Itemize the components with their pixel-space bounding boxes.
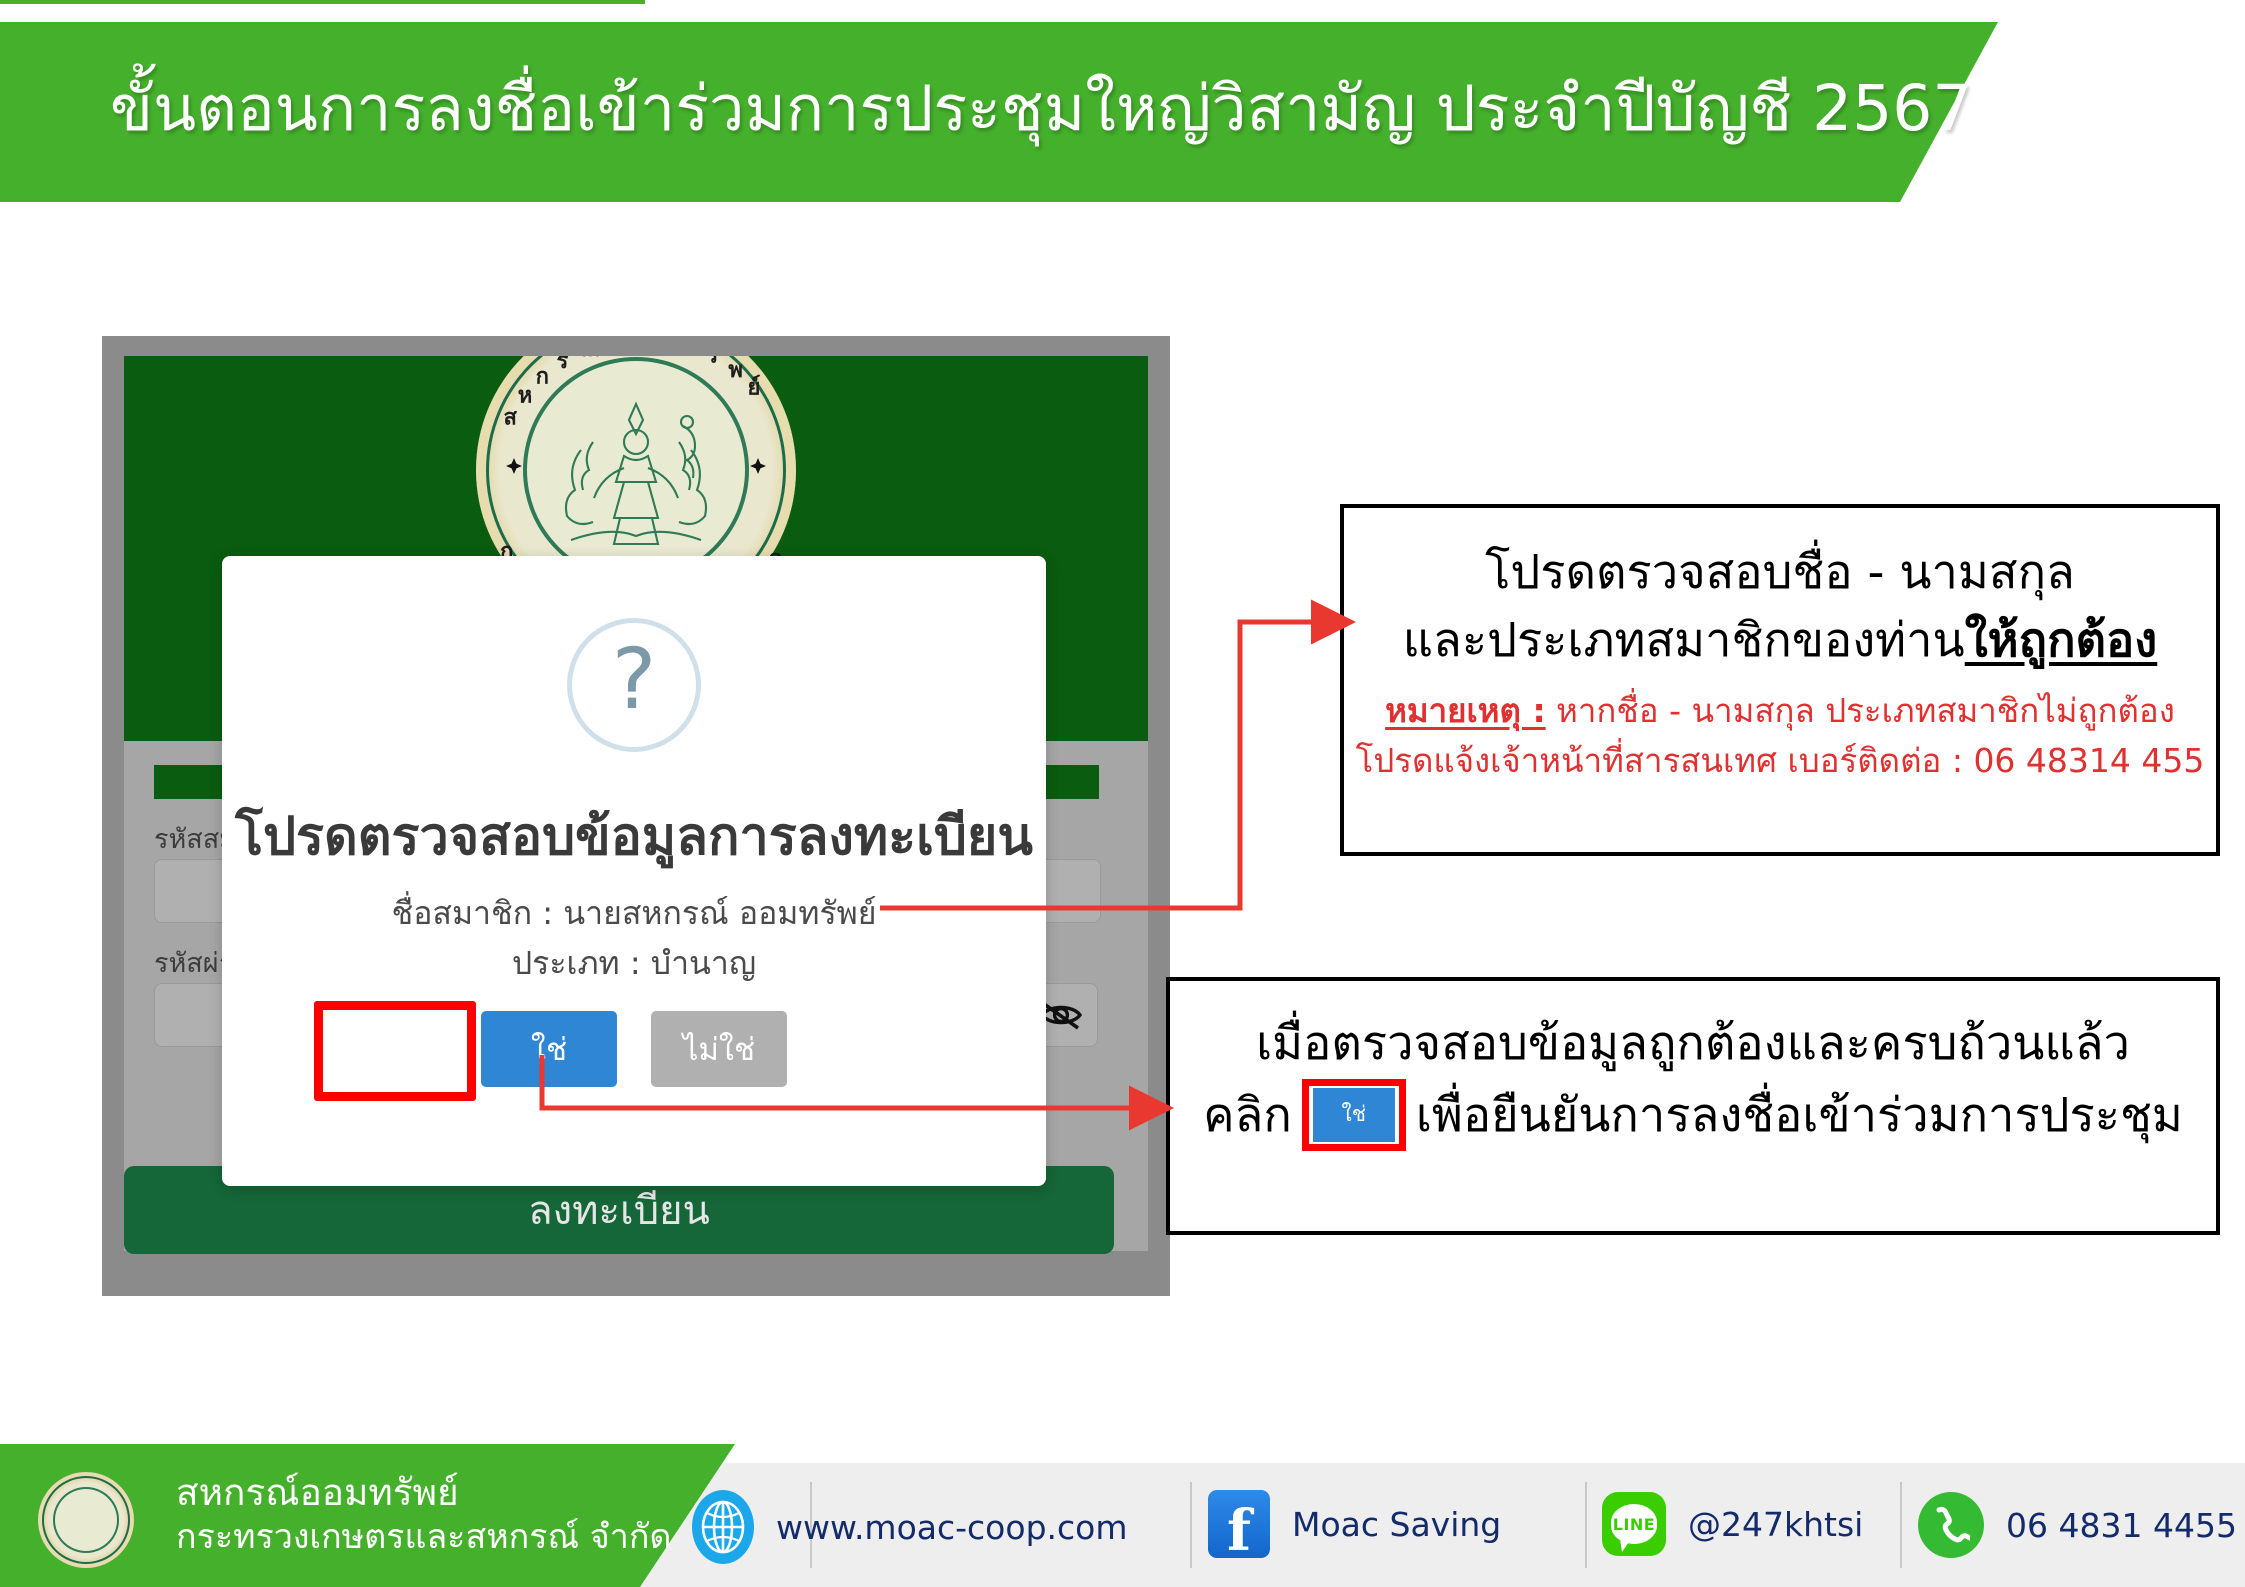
- phone-glyph: [1932, 1506, 1970, 1544]
- globe-icon: [692, 1490, 754, 1564]
- footer-item-website[interactable]: www.moac-coop.com: [692, 1490, 1127, 1564]
- footer-org-name: สหกรณ์ออมทรัพย์ กระทรวงเกษตรและสหกรณ์ จำ…: [176, 1470, 672, 1558]
- slide-canvas: ขั้นตอนการลงชื่อเข้าร่วมการประชุมใหญ่วิส…: [0, 0, 2245, 1587]
- dialog-title: โปรดตรวจสอบข้อมูลการลงทะเบียน: [222, 794, 1046, 877]
- footer-line-text: @247khtsi: [1688, 1505, 1863, 1544]
- callout2-click-word: คลิก: [1203, 1077, 1292, 1152]
- footer-org-line2: กระทรวงเกษตรและสหกรณ์ จำกัด: [176, 1516, 672, 1558]
- callout2-yes-chip-highlight: ใช่: [1302, 1079, 1406, 1151]
- top-accent-line: [0, 0, 645, 4]
- footer-item-facebook[interactable]: f Moac Saving: [1208, 1490, 1501, 1558]
- footer-seal-inner: [53, 1487, 119, 1553]
- dialog-member-name: ชื่อสมาชิก : นายสหกรณ์ ออมทรัพย์: [222, 888, 1046, 939]
- callout-check-name: โปรดตรวจสอบชื่อ - นามสกุล และประเภทสมาชิ…: [1340, 504, 2220, 856]
- dialog-confirm-button[interactable]: ใช่: [481, 1011, 617, 1087]
- phone-icon: [1918, 1492, 1984, 1558]
- callout1-note-line2: โปรดแจ้งเจ้าหน้าที่สารสนเทศ เบอร์ติดต่อ …: [1344, 734, 2216, 787]
- footer-website-text: www.moac-coop.com: [776, 1508, 1127, 1547]
- dialog-actions: ใช่ ไม่ใช่: [222, 1011, 1046, 1087]
- callout1-line2-emphasis: ให้ถูกต้อง: [1965, 613, 2158, 668]
- callout-click-confirm: เมื่อตรวจสอบข้อมูลถูกต้องและครบถ้วนแล้ว …: [1166, 977, 2220, 1235]
- callout1-line1: โปรดตรวจสอบชื่อ - นามสกุล: [1344, 534, 2216, 609]
- seal-deity-figure-icon: [541, 390, 731, 560]
- footer-phone-text: 06 4831 4455: [2006, 1506, 2237, 1545]
- confirm-dialog: ? โปรดตรวจสอบข้อมูลการลงทะเบียน ชื่อสมาช…: [222, 556, 1046, 1186]
- callout2-line1: เมื่อตรวจสอบข้อมูลถูกต้องและครบถ้วนแล้ว: [1170, 1005, 2216, 1080]
- callout1-line2-plain: และประเภทสมาชิกของท่าน: [1403, 613, 1965, 668]
- page-title: ขั้นตอนการลงชื่อเข้าร่วมการประชุมใหญ่วิส…: [110, 58, 1972, 158]
- callout1-note-line1: หมายเหตุ : หากชื่อ - นามสกุล ประเภทสมาชิ…: [1344, 684, 2216, 737]
- footer-facebook-text: Moac Saving: [1292, 1505, 1501, 1544]
- facebook-icon: f: [1208, 1490, 1270, 1558]
- footer-org-line1: สหกรณ์ออมทรัพย์: [176, 1470, 672, 1516]
- dialog-member-type: ประเภท : บำนาญ: [222, 938, 1046, 989]
- question-mark-icon: ?: [567, 618, 701, 752]
- callout2-yes-chip: ใช่: [1313, 1088, 1395, 1142]
- seal-inner-medallion: [523, 357, 749, 583]
- callout1-note-label: หมายเหตุ :: [1385, 691, 1546, 730]
- callout1-line2: และประเภทสมาชิกของท่านให้ถูกต้อง: [1344, 602, 2216, 677]
- callout2-line2: คลิก ใช่ เพื่อยืนยันการลงชื่อเข้าร่วมการ…: [1170, 1077, 2216, 1152]
- footer-item-line[interactable]: LINE @247khtsi: [1602, 1492, 1863, 1556]
- footer-divider-2: [1190, 1482, 1192, 1568]
- footer-divider-3: [1585, 1482, 1587, 1568]
- dialog-cancel-button[interactable]: ไม่ใช่: [651, 1011, 787, 1087]
- callout1-note-text: หากชื่อ - นามสกุล ประเภทสมาชิกไม่ถูกต้อง: [1546, 691, 2175, 730]
- footer-divider-4: [1900, 1482, 1902, 1568]
- footer-item-phone[interactable]: 06 4831 4455: [1918, 1492, 2237, 1558]
- line-icon: LINE: [1602, 1492, 1666, 1556]
- question-mark-glyph: ?: [612, 637, 657, 721]
- footer-seal-icon: [38, 1472, 134, 1568]
- line-bubble-glyph: LINE: [1611, 1504, 1657, 1544]
- callout2-after-chip: เพื่อยืนยันการลงชื่อเข้าร่วมการประชุม: [1416, 1077, 2183, 1152]
- globe-glyph: [700, 1499, 746, 1555]
